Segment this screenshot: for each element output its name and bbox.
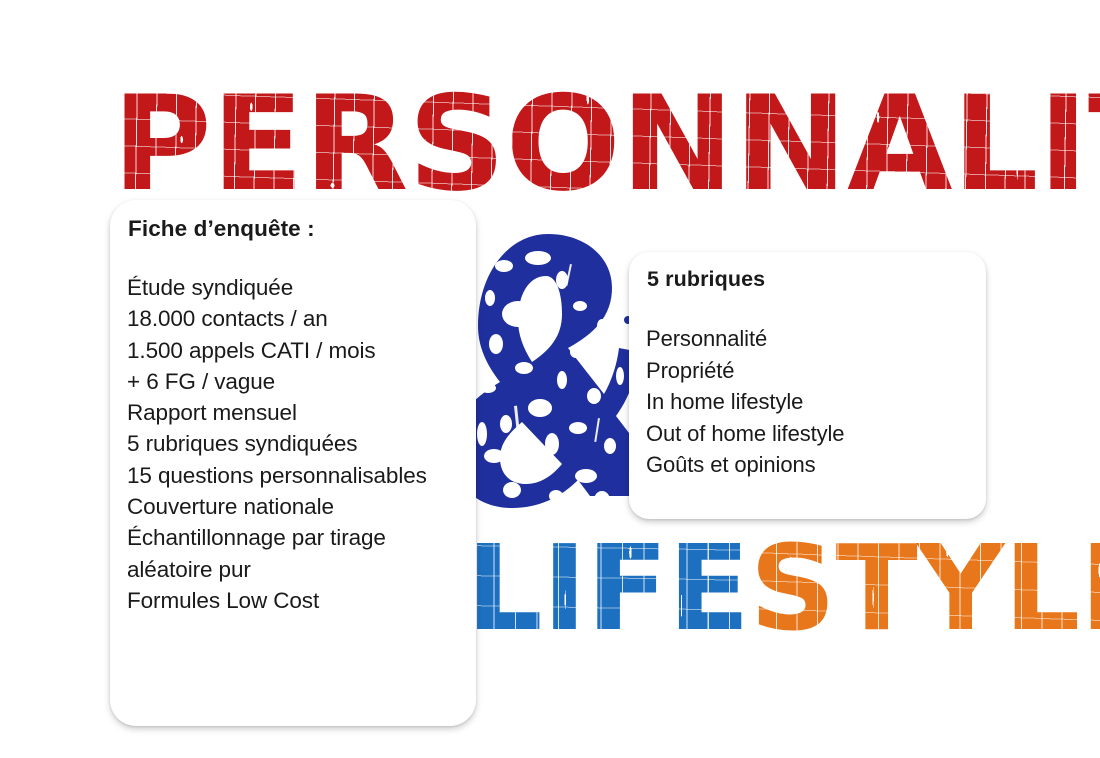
- list-item: In home lifestyle: [646, 386, 844, 418]
- card-fiche-heading: Fiche d’enquête :: [128, 216, 315, 242]
- list-item: 15 questions personnalisables: [127, 460, 427, 491]
- card-fiche-enquete: Fiche d’enquête : Étude syndiquée 18.000…: [110, 200, 476, 726]
- list-item: 5 rubriques syndiquées: [127, 428, 427, 459]
- list-item: Personnalité: [646, 323, 844, 355]
- slide-canvas: PERSONNALITE: [0, 0, 1100, 758]
- list-item: 1.500 appels CATI / mois: [127, 335, 427, 366]
- list-item: Étude syndiquée: [127, 272, 427, 303]
- list-item: Propriété: [646, 355, 844, 387]
- list-item: aléatoire pur: [127, 554, 427, 585]
- list-item: Échantillonnage par tirage: [127, 522, 427, 553]
- card-rubriques-heading: 5 rubriques: [647, 267, 765, 292]
- list-item: 18.000 contacts / an: [127, 303, 427, 334]
- card-rubriques-list: Personnalité Propriété In home lifestyle…: [646, 323, 844, 481]
- card-5-rubriques: 5 rubriques Personnalité Propriété In ho…: [629, 252, 986, 519]
- headline-lifestyle: LIFESTYLE: [466, 529, 1100, 647]
- list-item: Formules Low Cost: [127, 585, 427, 616]
- headline-lifestyle-life: LIFE: [466, 529, 750, 647]
- list-item: Goûts et opinions: [646, 449, 844, 481]
- headline-personnalite-text: PERSONNALITE: [112, 78, 1100, 209]
- list-item: Couverture nationale: [127, 491, 427, 522]
- ampersand-icon: [452, 228, 642, 520]
- headline-lifestyle-style: STYLE: [750, 529, 1100, 647]
- headline-personnalite: PERSONNALITE: [112, 78, 1100, 209]
- list-item: Out of home lifestyle: [646, 418, 844, 450]
- list-item: + 6 FG / vague: [127, 366, 427, 397]
- card-fiche-list: Étude syndiquée 18.000 contacts / an 1.5…: [127, 272, 427, 616]
- list-item: Rapport mensuel: [127, 397, 427, 428]
